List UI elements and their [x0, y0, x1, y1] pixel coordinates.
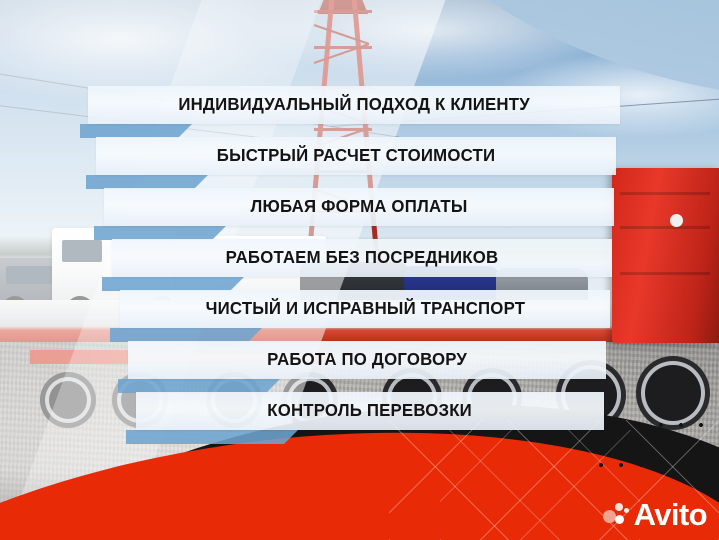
band-chevron-tab: [102, 277, 244, 291]
feature-label: ИНДИВИДУАЛЬНЫЙ ПОДХОД К КЛИЕНТУ: [178, 96, 530, 114]
band-chevron-tab: [94, 226, 226, 240]
band-chevron-tab: [80, 124, 192, 138]
band-chevron-tab: [110, 328, 262, 342]
feature-band: ИНДИВИДУАЛЬНЫЙ ПОДХОД К КЛИЕНТУ: [88, 86, 620, 124]
feature-band: ЛЮБАЯ ФОРМА ОПЛАТЫ: [104, 188, 614, 226]
feature-label: ЧИСТЫЙ И ИСПРАВНЫЙ ТРАНСПОРТ: [205, 300, 525, 318]
band-chevron-tab: [118, 379, 280, 393]
band-chevron-tab: [126, 430, 298, 444]
band-chevron-tab: [86, 175, 208, 189]
feature-label: РАБОТА ПО ДОГОВОРУ: [267, 351, 467, 369]
feature-band: РАБОТА ПО ДОГОВОРУ: [128, 341, 606, 379]
feature-band: БЫСТРЫЙ РАСЧЕТ СТОИМОСТИ: [96, 137, 616, 175]
avito-listing-banner: Avito ИНДИВИДУАЛЬНЫЙ ПОДХОД К КЛИЕНТУ БЫ…: [0, 0, 719, 540]
feature-label: РАБОТАЕМ БЕЗ ПОСРЕДНИКОВ: [226, 249, 499, 267]
feature-band: ЧИСТЫЙ И ИСПРАВНЫЙ ТРАНСПОРТ: [120, 290, 610, 328]
feature-label: ЛЮБАЯ ФОРМА ОПЛАТЫ: [250, 198, 467, 216]
feature-list: ИНДИВИДУАЛЬНЫЙ ПОДХОД К КЛИЕНТУ БЫСТРЫЙ …: [0, 0, 719, 540]
feature-band: РАБОТАЕМ БЕЗ ПОСРЕДНИКОВ: [112, 239, 612, 277]
feature-label: КОНТРОЛЬ ПЕРЕВОЗКИ: [268, 402, 473, 420]
feature-band: КОНТРОЛЬ ПЕРЕВОЗКИ: [136, 392, 604, 430]
feature-label: БЫСТРЫЙ РАСЧЕТ СТОИМОСТИ: [217, 147, 495, 165]
